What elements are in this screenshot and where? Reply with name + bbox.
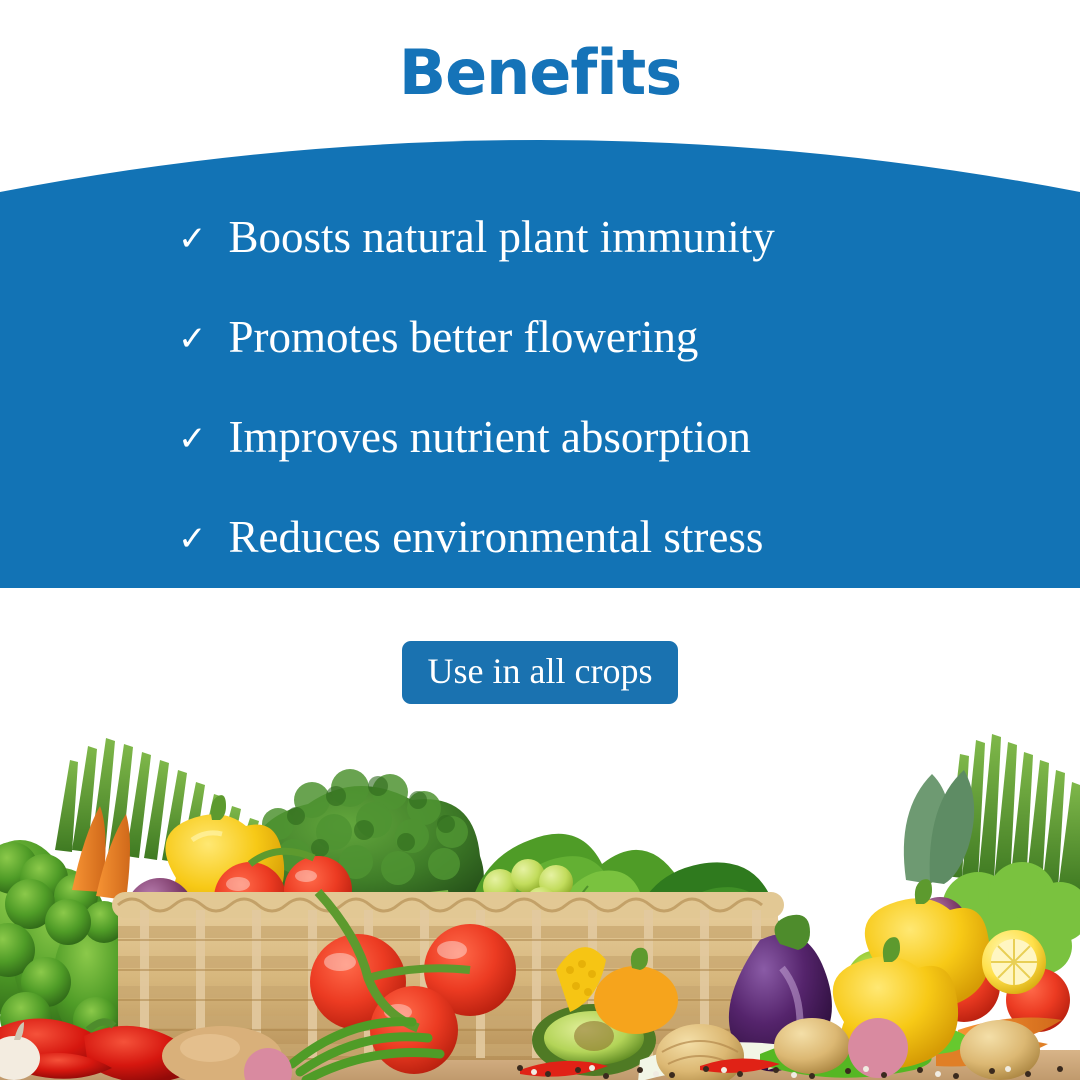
benefit-label: Boosts natural plant immunity <box>229 214 775 261</box>
check-icon: ✓ <box>178 222 207 256</box>
crops-badge-container: Use in all crops <box>0 641 1080 704</box>
produce-photo-illustration <box>0 700 1080 1080</box>
benefit-item-4: ✓ Reduces environmental stress <box>0 488 1080 588</box>
produce-photo <box>0 700 1080 1080</box>
benefit-item-1: ✓ Boosts natural plant immunity <box>0 188 1080 288</box>
benefit-label: Reduces environmental stress <box>229 514 764 561</box>
use-in-all-crops-badge: Use in all crops <box>402 641 679 704</box>
check-icon: ✓ <box>178 322 207 356</box>
benefit-item-3: ✓ Improves nutrient absorption <box>0 388 1080 488</box>
page-title: Benefits <box>0 36 1080 109</box>
benefits-infographic: Benefits ✓ Boosts natural plant immunity… <box>0 0 1080 1080</box>
benefit-item-2: ✓ Promotes better flowering <box>0 288 1080 388</box>
benefits-list: ✓ Boosts natural plant immunity ✓ Promot… <box>0 180 1080 588</box>
check-icon: ✓ <box>178 522 207 556</box>
benefit-label: Promotes better flowering <box>229 314 699 361</box>
benefit-label: Improves nutrient absorption <box>229 414 751 461</box>
check-icon: ✓ <box>178 422 207 456</box>
